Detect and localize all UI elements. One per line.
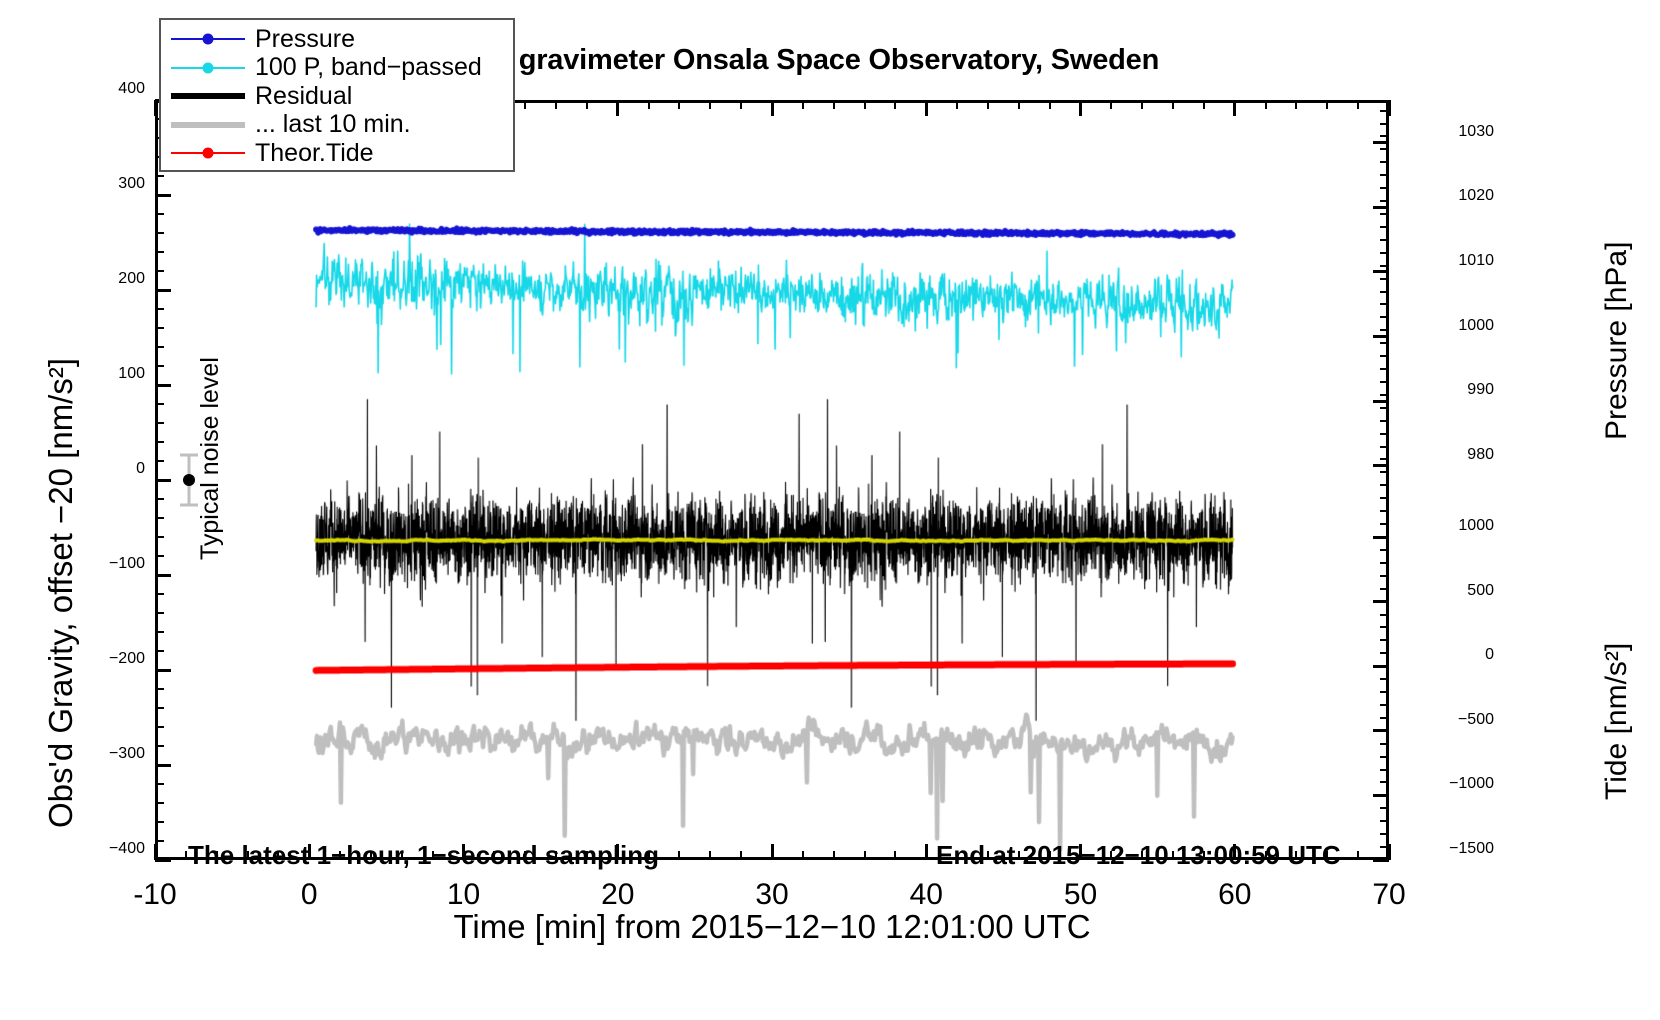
x-tick-label: 60 xyxy=(1175,878,1295,912)
x-tick-label: 30 xyxy=(712,878,832,912)
legend-swatch-icon xyxy=(169,114,247,136)
legend: Pressure100 P, band−passedResidual... la… xyxy=(159,18,515,172)
legend-swatch-icon xyxy=(169,85,247,107)
legend-label: Pressure xyxy=(255,27,355,52)
y-axis-right-tide-title: Tide [nm/s²] xyxy=(1600,643,1634,800)
typical-noise-level-label: Typical noise level xyxy=(196,357,225,560)
x-tick-label: 10 xyxy=(404,878,524,912)
legend-label: 100 P, band−passed xyxy=(255,55,482,80)
legend-label: ... last 10 min. xyxy=(255,112,411,137)
legend-item[interactable]: Residual xyxy=(169,82,505,111)
legend-item[interactable]: ... last 10 min. xyxy=(169,111,505,140)
x-tick-label: 50 xyxy=(1021,878,1141,912)
legend-swatch-icon xyxy=(169,28,247,50)
legend-item[interactable]: Theor.Tide xyxy=(169,139,505,168)
x-axis-title: Time [min] from 2015−12−10 12:01:00 UTC xyxy=(155,908,1389,946)
x-tick-label: 20 xyxy=(558,878,678,912)
legend-label: Theor.Tide xyxy=(255,141,374,166)
chart-page: SCG_054 gravimeter Onsala Space Observat… xyxy=(0,0,1660,1020)
y-axis-right-pressure-title: Pressure [hPa] xyxy=(1600,242,1634,440)
legend-item[interactable]: Pressure xyxy=(169,25,505,54)
y-axis-left-title: Obs'd Gravity, offset −20 [nm/s²] xyxy=(42,358,80,828)
x-tick-label: -10 xyxy=(95,878,215,912)
end-time-note: End at 2015−12−10 13:00:59 UTC xyxy=(936,840,1341,871)
x-tick-label: 0 xyxy=(249,878,369,912)
legend-swatch-icon xyxy=(169,142,247,164)
x-tick-label: 70 xyxy=(1329,878,1449,912)
legend-label: Residual xyxy=(255,84,352,109)
sampling-note: The latest 1−hour, 1−second sampling xyxy=(188,840,659,871)
x-tick-label: 40 xyxy=(866,878,986,912)
legend-swatch-icon xyxy=(169,57,247,79)
legend-item[interactable]: 100 P, band−passed xyxy=(169,54,505,83)
